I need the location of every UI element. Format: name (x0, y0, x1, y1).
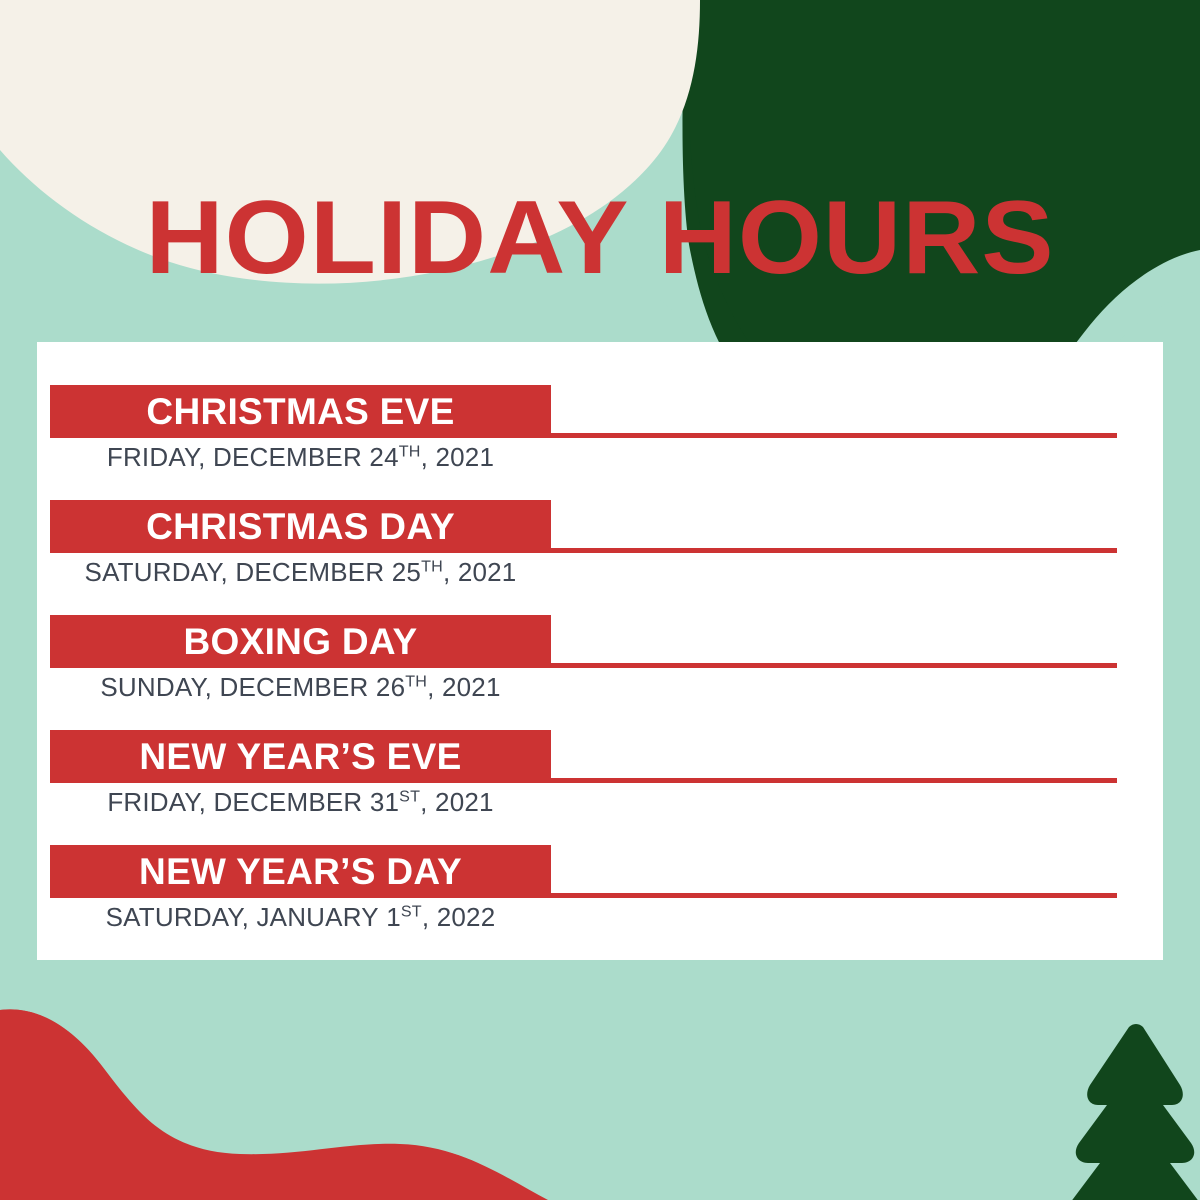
holiday-name: NEW YEAR’S EVE (139, 738, 461, 775)
hours-entry-line[interactable] (551, 663, 1117, 668)
hours-row: NEW YEAR’S DAY SATURDAY, JANUARY 1ST, 20… (37, 802, 1163, 917)
holiday-label-bar: CHRISTMAS EVE (50, 385, 551, 438)
holiday-hours-poster: HOLIDAY HOURS CHRISTMAS EVE FRIDAY, DECE… (0, 0, 1200, 1200)
hours-card: CHRISTMAS EVE FRIDAY, DECEMBER 24TH, 202… (37, 342, 1163, 960)
page-title-container: HOLIDAY HOURS (0, 186, 1200, 290)
hours-entry-line[interactable] (551, 433, 1117, 438)
holiday-date-suffix: ST (401, 902, 422, 920)
holiday-label-bar: NEW YEAR’S EVE (50, 730, 551, 783)
page-title: HOLIDAY HOURS (145, 186, 1054, 290)
holiday-label-bar: NEW YEAR’S DAY (50, 845, 551, 898)
holiday-date-comma2: , (422, 902, 437, 932)
holiday-label-bar: CHRISTMAS DAY (50, 500, 551, 553)
holiday-date: SATURDAY, JANUARY 1ST, 2022 (50, 902, 551, 933)
hours-entry-line[interactable] (551, 893, 1117, 898)
holiday-date-weekday: SATURDAY (106, 902, 242, 932)
holiday-name: NEW YEAR’S DAY (139, 853, 462, 890)
holiday-name: BOXING DAY (184, 623, 418, 660)
hours-row: CHRISTMAS DAY SATURDAY, DECEMBER 25TH, 2… (37, 457, 1163, 572)
holiday-date-year: 2022 (437, 902, 496, 932)
holiday-label-bar: BOXING DAY (50, 615, 551, 668)
hours-entry-line[interactable] (551, 548, 1117, 553)
holiday-date-month: JANUARY (256, 902, 378, 932)
hours-row: NEW YEAR’S EVE FRIDAY, DECEMBER 31ST, 20… (37, 687, 1163, 802)
hours-row: BOXING DAY SUNDAY, DECEMBER 26TH, 2021 (37, 572, 1163, 687)
holiday-date-comma1: , (242, 902, 257, 932)
hours-entry-line[interactable] (551, 778, 1117, 783)
holiday-name: CHRISTMAS EVE (146, 393, 454, 430)
holiday-name: CHRISTMAS DAY (146, 508, 455, 545)
holiday-date-day: 1 (386, 902, 401, 932)
hours-row: CHRISTMAS EVE FRIDAY, DECEMBER 24TH, 202… (37, 342, 1163, 457)
